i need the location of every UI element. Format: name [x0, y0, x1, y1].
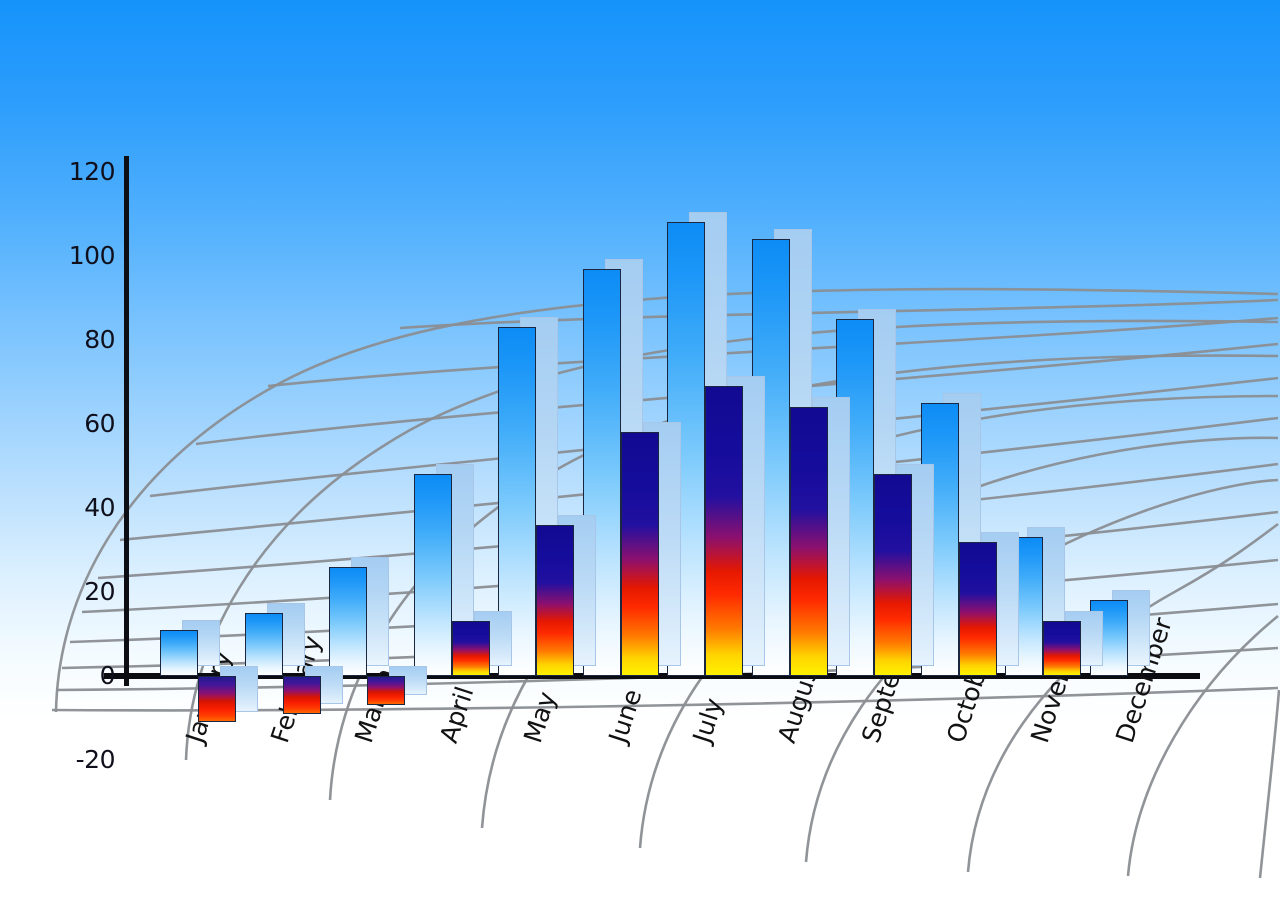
bar-february-series2[interactable]	[283, 676, 321, 714]
y-tick-label: 60	[55, 411, 115, 436]
y-axis	[124, 156, 129, 686]
bar-september-series2[interactable]	[874, 474, 912, 676]
y-tick-label: 120	[55, 159, 115, 184]
bar-may-series2[interactable]	[536, 525, 574, 676]
y-tick-label: 80	[55, 327, 115, 352]
bar-april-series1[interactable]	[414, 474, 452, 676]
y-tick-label: -20	[55, 747, 115, 772]
bar-november-series2[interactable]	[1043, 621, 1081, 676]
y-tick-label: 100	[55, 243, 115, 268]
chart-canvas: 120100806040200-20JanuaryFebruaryMarchAp…	[0, 0, 1280, 905]
bar-january-series2[interactable]	[198, 676, 236, 722]
bar-july-series2[interactable]	[705, 386, 743, 676]
x-tick-label-june: June	[605, 686, 647, 746]
bar-march-series1[interactable]	[329, 567, 367, 676]
y-tick-label: 40	[55, 495, 115, 520]
x-tick-label-april: April	[436, 684, 478, 746]
x-tick-label-may: May	[520, 689, 561, 746]
bar-june-series2[interactable]	[621, 432, 659, 676]
plot-area: 120100806040200-20JanuaryFebruaryMarchAp…	[0, 0, 1280, 905]
bar-march-series2[interactable]	[367, 676, 405, 705]
y-tick-label: 20	[55, 579, 115, 604]
bar-january-series1[interactable]	[160, 630, 198, 676]
bar-august-series2[interactable]	[790, 407, 828, 676]
x-tick-label-july: July	[689, 695, 728, 746]
bar-april-series2[interactable]	[452, 621, 490, 676]
y-tick-label: 0	[55, 663, 115, 688]
bar-october-series2[interactable]	[959, 542, 997, 676]
